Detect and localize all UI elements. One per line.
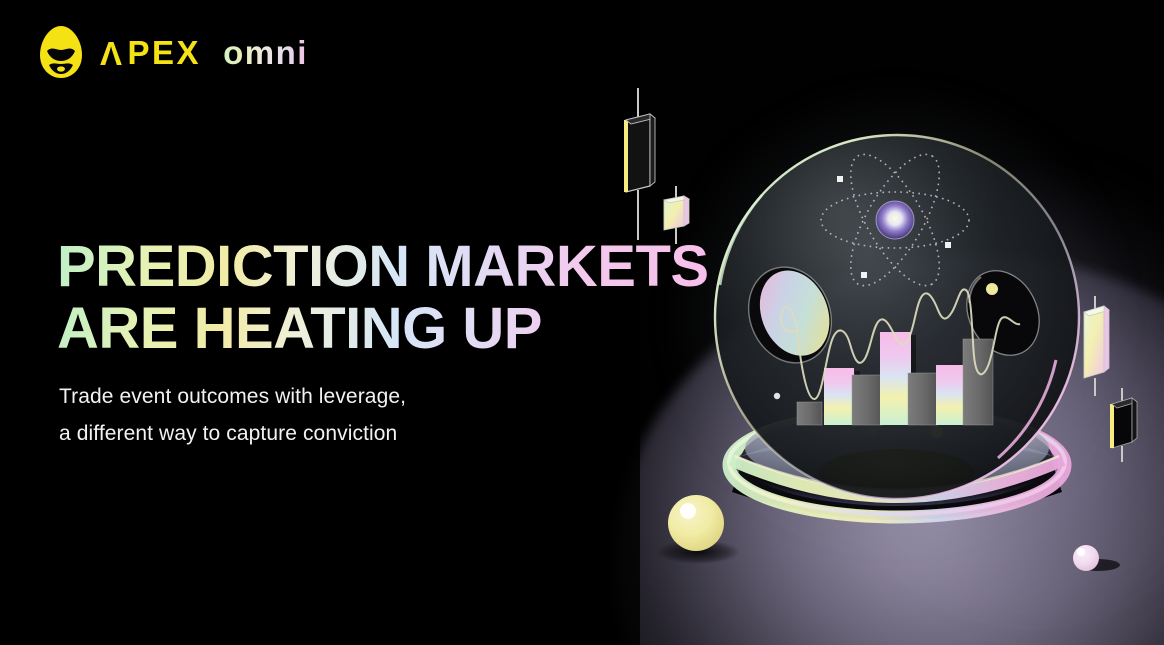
page-title: PREDICTION MARKETS ARE HEATING UP — [57, 236, 709, 360]
crystal-ball — [715, 135, 1079, 499]
prediction-bar-chart — [797, 332, 993, 425]
particle-pink-base — [869, 429, 877, 437]
base-ring-outer — [729, 413, 1065, 517]
candlestick-right-upper — [1084, 296, 1109, 396]
brand-logo[interactable]: ΛPEX omni — [36, 24, 308, 80]
bar-4 — [880, 332, 911, 425]
sphere-pink-small — [1073, 545, 1120, 571]
sphere-highlight — [1077, 548, 1085, 556]
base-center-well — [819, 449, 975, 497]
bar-3 — [852, 375, 882, 425]
sphere-halo-glow — [672, 92, 1122, 542]
brand-wordmark: ΛPEX omni — [100, 36, 308, 69]
bar-1 — [797, 402, 822, 425]
base-ring-front — [731, 460, 1063, 497]
bar-2 — [824, 368, 854, 425]
apex-shield-icon — [36, 24, 86, 80]
bar-7 — [963, 339, 993, 425]
atom-nucleus — [876, 201, 914, 239]
page-subtitle: Trade event outcomes with leverage, a di… — [59, 378, 406, 453]
candlestick-top-left-large — [624, 88, 655, 240]
particle-white-left — [774, 393, 780, 399]
brand-name-apex: ΛPEX — [100, 36, 201, 69]
brand-name-omni: omni — [223, 36, 308, 69]
sphere-highlight — [680, 503, 696, 519]
bar-5 — [908, 373, 937, 425]
crystal-ball-base — [729, 408, 1065, 520]
base-ring-highlight — [729, 410, 1065, 514]
atom-icon — [821, 142, 969, 298]
particle-yellow-small-right — [974, 370, 980, 376]
atom-node — [861, 272, 867, 278]
base-bowl — [741, 412, 1053, 506]
sphere-yellow-large — [656, 495, 740, 564]
base-bowl-lip — [741, 428, 1053, 456]
dark-ellipse-right — [953, 259, 1053, 368]
hero-banner: ΛPEX omni PREDICTION MARKETS ARE HEATING… — [0, 0, 1164, 645]
iridescent-disc — [735, 255, 846, 376]
sphere-rim — [715, 135, 1079, 499]
apex-lambda-glyph: Λ — [100, 37, 125, 70]
volatility-wave — [797, 289, 1020, 399]
particle-yellow-base — [931, 426, 943, 438]
atom-node — [837, 176, 843, 182]
particle-yellow-right — [986, 283, 998, 295]
bar-6 — [936, 365, 966, 425]
background-glow-right — [844, 180, 1164, 600]
candlestick-right-lower — [1110, 388, 1137, 462]
atom-node — [945, 242, 951, 248]
